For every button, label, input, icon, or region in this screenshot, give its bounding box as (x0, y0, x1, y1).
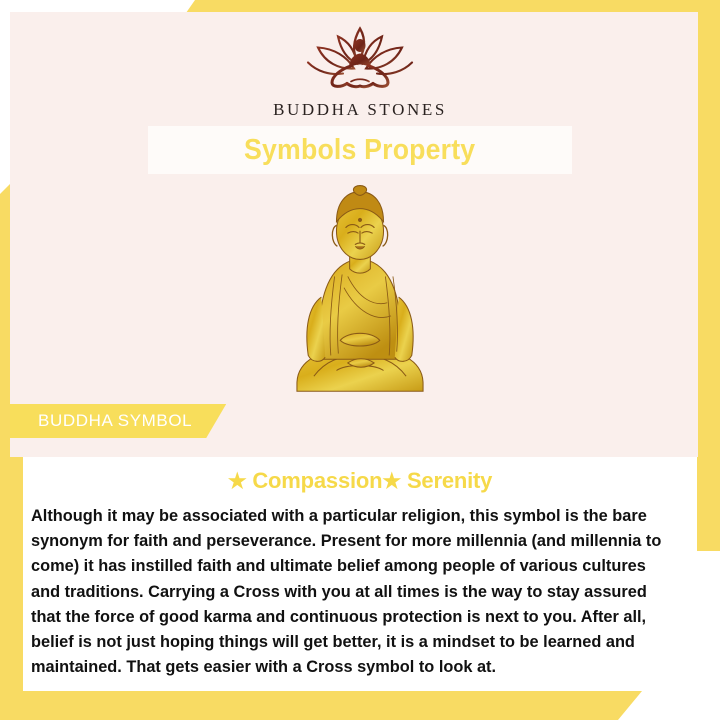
buddha-symbol-tag-label: BUDDHA SYMBOL (38, 411, 192, 431)
content-heading: ★ Compassion★ Serenity (23, 468, 697, 494)
heading-word-serenity: Serenity (401, 468, 492, 493)
page-title: Symbols Property (244, 134, 475, 167)
brand-block: BUDDHA STONES (0, 18, 720, 120)
poster-canvas: BUDDHA STONES Symbols Property (0, 0, 720, 720)
star-icon-right: ★ (382, 470, 401, 493)
star-icon-left: ★ (228, 470, 247, 493)
content-panel: ★ Compassion★ Serenity Although it may b… (23, 457, 697, 691)
content-paragraph: Although it may be associated with a par… (31, 503, 679, 680)
buddha-symbol-tag: BUDDHA SYMBOL (10, 404, 226, 438)
brand-name: BUDDHA STONES (0, 100, 720, 120)
title-banner: Symbols Property (148, 126, 572, 174)
decor-bottom-yellow-band (0, 691, 642, 720)
heading-word-compassion: Compassion (246, 468, 382, 493)
lotus-meditation-icon (295, 18, 425, 96)
